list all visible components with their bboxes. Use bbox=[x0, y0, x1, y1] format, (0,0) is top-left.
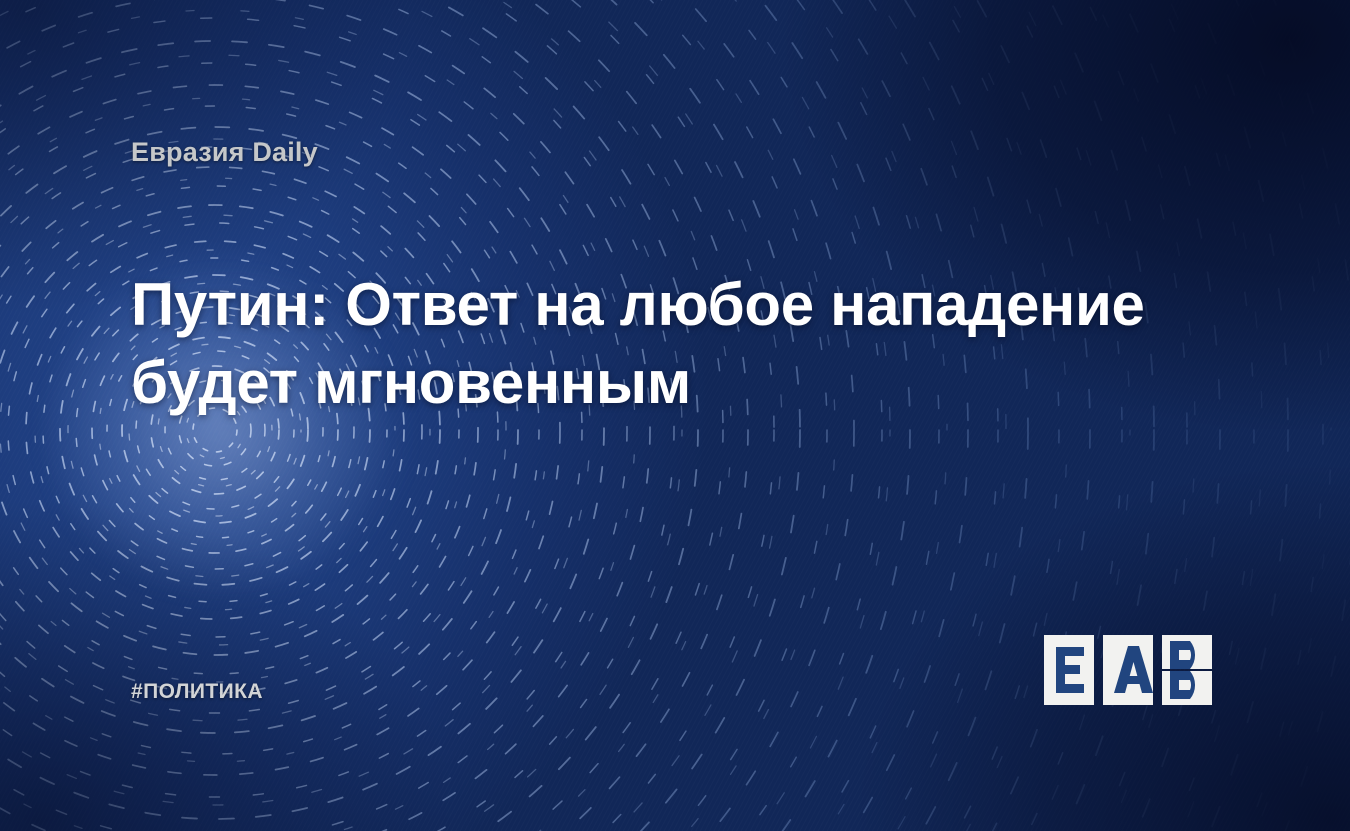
headline: Путин: Ответ на любое нападение будет мг… bbox=[131, 266, 1236, 422]
logo-letter-d bbox=[1170, 641, 1195, 699]
social-share-card: Евразия Daily Путин: Ответ на любое напа… bbox=[0, 0, 1350, 831]
card-content: Евразия Daily Путин: Ответ на любое напа… bbox=[0, 0, 1350, 831]
site-name: Евразия Daily bbox=[131, 137, 318, 168]
logo-letter-e bbox=[1056, 647, 1084, 693]
eadaily-logo[interactable] bbox=[1044, 629, 1220, 709]
category-hashtag[interactable]: #ПОЛИТИКА bbox=[131, 680, 263, 704]
